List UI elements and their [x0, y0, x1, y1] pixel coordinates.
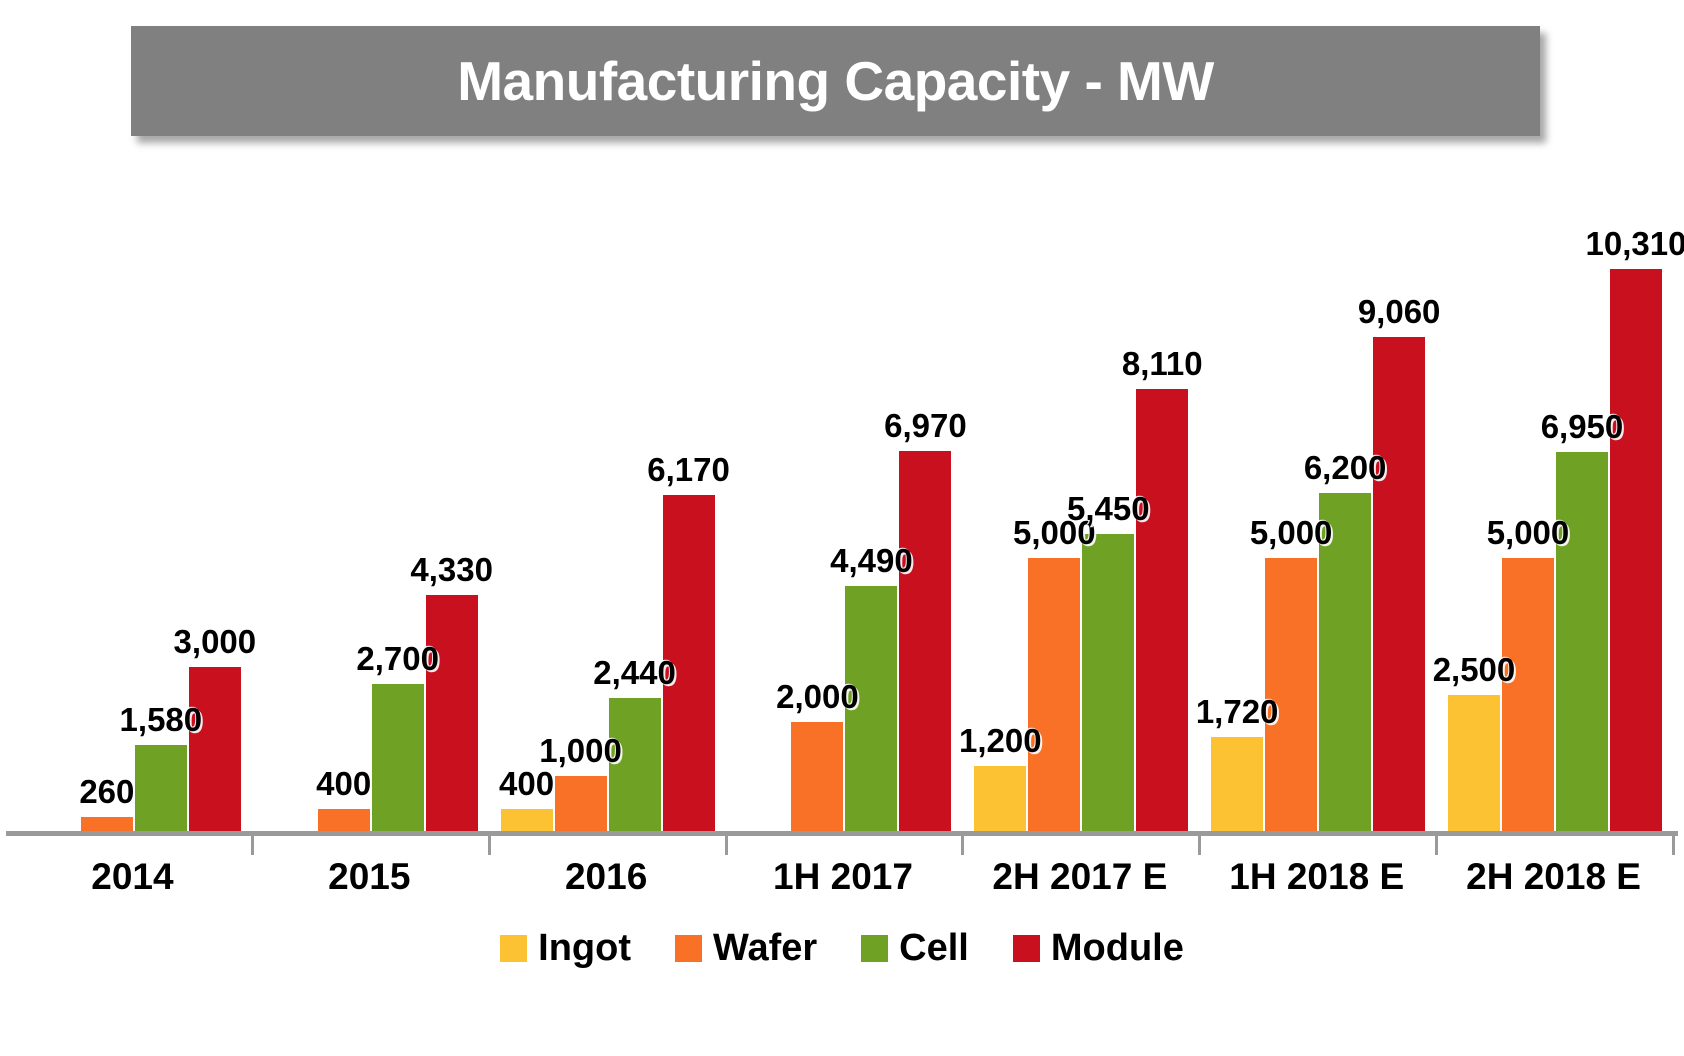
legend-label: Wafer	[713, 929, 817, 967]
bar-wafer[interactable]: 2,000	[791, 722, 843, 831]
bar-cell[interactable]: 2,700	[372, 684, 424, 831]
bar-value-label: 6,970	[884, 407, 967, 445]
bar-wafer[interactable]: 260	[81, 817, 133, 831]
bar-group: 4002,7004,330	[251, 150, 488, 831]
bar-slot: 5,000	[1502, 150, 1554, 831]
bar-value-label: 1,580	[120, 701, 203, 739]
bar-module[interactable]: 6,970	[899, 451, 951, 831]
bar-value-label: 2,440	[593, 654, 676, 692]
title-banner: Manufacturing Capacity - MW	[131, 26, 1540, 136]
x-axis-tick	[488, 836, 491, 855]
bar-wafer[interactable]: 5,000	[1028, 558, 1080, 831]
bar-cell[interactable]: 5,450	[1082, 534, 1134, 831]
bar-wafer[interactable]: 1,000	[555, 776, 607, 831]
bar-slot: 2,000	[791, 150, 843, 831]
chart-legend: IngotWaferCellModule	[0, 918, 1684, 978]
bar-group: 2,5005,0006,95010,310	[1435, 150, 1672, 831]
bar-wafer[interactable]: 400	[318, 809, 370, 831]
bar-slot: 2,440	[609, 150, 661, 831]
bar-value-label: 4,490	[830, 542, 913, 580]
bar-slot: 400	[318, 150, 370, 831]
bar-value-label: 6,200	[1304, 449, 1387, 487]
x-axis-category-labels: 2014201520161H 20172H 2017 E1H 2018 E2H …	[0, 856, 1684, 912]
bar-group-bars: 2,0004,4906,970	[725, 150, 962, 831]
bar-slot: 2,500	[1448, 150, 1500, 831]
x-axis-label-4: 2H 2017 E	[992, 856, 1167, 898]
bar-value-label: 1,720	[1196, 693, 1279, 731]
bar-slot: 2,700	[372, 150, 424, 831]
bar-group-bars: 4001,0002,4406,170	[488, 150, 725, 831]
bar-slot: 1,200	[974, 150, 1026, 831]
bar-slot: 5,450	[1082, 150, 1134, 831]
bar-wafer[interactable]: 5,000	[1502, 558, 1554, 831]
bar-group: 4001,0002,4406,170	[488, 150, 725, 831]
bar-slot: 4,330	[426, 150, 478, 831]
legend-item-wafer[interactable]: Wafer	[675, 929, 817, 967]
legend-swatch-icon	[675, 935, 702, 962]
legend-swatch-icon	[861, 935, 888, 962]
bar-group: 2,0004,4906,970	[725, 150, 962, 831]
bar-value-label: 1,000	[539, 732, 622, 770]
legend-item-cell[interactable]: Cell	[861, 929, 969, 967]
bar-module[interactable]: 8,110	[1136, 389, 1188, 831]
x-axis-tick	[725, 836, 728, 855]
bar-value-label: 5,450	[1067, 490, 1150, 528]
x-axis-tick	[1435, 836, 1438, 855]
x-axis-tick	[961, 836, 964, 855]
bar-group: 1,2005,0005,4508,110	[961, 150, 1198, 831]
bar-slot: 6,170	[663, 150, 715, 831]
x-axis-label-3: 1H 2017	[773, 856, 913, 898]
x-axis-tick	[251, 836, 254, 855]
bar-slot: 400	[501, 150, 553, 831]
bar-value-label: 400	[499, 765, 554, 803]
bar-value-label: 260	[79, 773, 134, 811]
legend-swatch-icon	[1013, 935, 1040, 962]
bar-value-label: 9,060	[1358, 293, 1441, 331]
bar-group: 2601,5803,000	[14, 150, 251, 831]
bar-module[interactable]: 4,330	[426, 595, 478, 831]
bar-group-bars: 1,2005,0005,4508,110	[961, 150, 1198, 831]
bar-slot: 1,720	[1211, 150, 1263, 831]
bar-ingot[interactable]: 1,720	[1211, 737, 1263, 831]
bar-slot: 6,970	[899, 150, 951, 831]
bar-value-label: 400	[316, 765, 371, 803]
bar-value-label: 10,310	[1586, 225, 1684, 263]
bar-value-label: 4,330	[410, 551, 493, 589]
bar-value-label: 2,700	[356, 640, 439, 678]
legend-label: Module	[1051, 929, 1184, 967]
bar-slot: 1,580	[135, 150, 187, 831]
x-axis-tick	[1198, 836, 1201, 855]
bar-cell[interactable]: 1,580	[135, 745, 187, 831]
bar-ingot[interactable]: 400	[501, 809, 553, 831]
legend-swatch-icon	[500, 935, 527, 962]
x-axis-label-2: 2016	[565, 856, 647, 898]
x-axis-label-5: 1H 2018 E	[1229, 856, 1404, 898]
bar-slot: 4,490	[845, 150, 897, 831]
bar-ingot[interactable]: 1,200	[974, 766, 1026, 831]
bar-value-label: 6,950	[1541, 408, 1624, 446]
x-axis-line	[6, 831, 1678, 836]
bar-module[interactable]: 9,060	[1373, 337, 1425, 831]
legend-item-module[interactable]: Module	[1013, 929, 1184, 967]
bar-value-label: 5,000	[1487, 514, 1570, 552]
bar-value-label: 8,110	[1122, 345, 1203, 383]
x-axis-label-1: 2015	[328, 856, 410, 898]
bar-module[interactable]: 10,310	[1610, 269, 1662, 831]
legend-label: Cell	[899, 929, 969, 967]
bar-group-bars: 2,5005,0006,95010,310	[1435, 150, 1672, 831]
bar-value-label: 3,000	[174, 623, 257, 661]
bar-group-bars: 2601,5803,000	[14, 150, 251, 831]
x-axis-label-6: 2H 2018 E	[1466, 856, 1641, 898]
bar-slot: 1,000	[555, 150, 607, 831]
bar-module[interactable]: 3,000	[189, 667, 241, 831]
bar-value-label: 5,000	[1250, 514, 1333, 552]
slide-canvas: Manufacturing Capacity - MW 2601,5803,00…	[0, 0, 1684, 1056]
bar-group-bars: 4002,7004,330	[251, 150, 488, 831]
bar-value-label: 2,000	[776, 678, 859, 716]
legend-label: Ingot	[538, 929, 631, 967]
bar-slot: 10,310	[1610, 150, 1662, 831]
bar-slot: 9,060	[1373, 150, 1425, 831]
bar-slot: 6,200	[1319, 150, 1371, 831]
bar-value-label: 1,200	[959, 722, 1042, 760]
bar-group-bars: 1,7205,0006,2009,060	[1198, 150, 1435, 831]
x-axis-tick	[1672, 836, 1675, 855]
bar-cell[interactable]: 6,950	[1556, 452, 1608, 831]
legend-item-ingot[interactable]: Ingot	[500, 929, 631, 967]
page-title: Manufacturing Capacity - MW	[457, 54, 1214, 109]
chart-plot-area: 2601,5803,0004002,7004,3304001,0002,4406…	[0, 150, 1684, 831]
bar-value-label: 6,170	[647, 451, 730, 489]
bar-ingot[interactable]: 2,500	[1448, 695, 1500, 831]
bar-group: 1,7205,0006,2009,060	[1198, 150, 1435, 831]
x-axis-label-0: 2014	[91, 856, 173, 898]
bar-value-label: 2,500	[1433, 651, 1516, 689]
